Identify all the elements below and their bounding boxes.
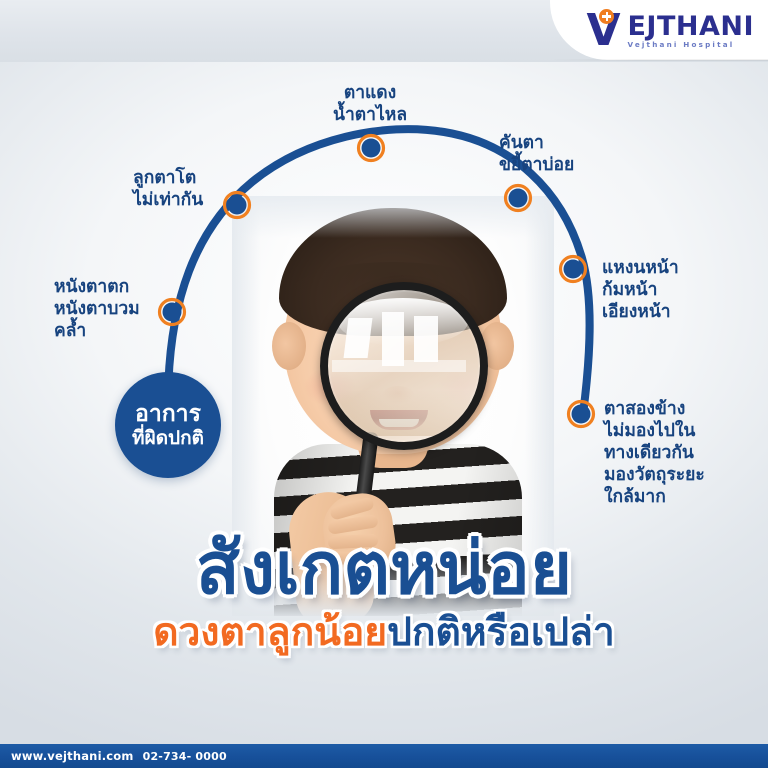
callout-label-droopy-swollen-eyelid: หนังตาตก หนังตาบวม คล้ำ bbox=[54, 276, 140, 342]
callout-line: ใกล้มาก bbox=[604, 486, 705, 508]
callout-line: คล้ำ bbox=[54, 320, 140, 342]
arc-dot-head-tilt bbox=[561, 257, 586, 282]
footer-website[interactable]: www.vejthani.com bbox=[11, 749, 134, 763]
arc-dot-red-eyes-tearing bbox=[359, 136, 384, 161]
callout-label-itchy-eyes-rubbing: คันตา ขยี้ตาบ่อย bbox=[499, 132, 574, 176]
logo-wordmark: EJTHANI bbox=[627, 14, 754, 39]
callout-line: มองวัตถุระยะ bbox=[604, 464, 705, 486]
callout-label-unequal-eyeballs: ลูกตาโต ไม่เท่ากัน bbox=[133, 167, 203, 211]
footer-bar: www.vejthani.com 02-734- 0000 bbox=[0, 744, 768, 768]
callout-line: ก้มหน้า bbox=[602, 279, 679, 301]
callout-line: เอียงหน้า bbox=[602, 301, 679, 323]
badge-line-2: ที่ผิดปกติ bbox=[132, 427, 204, 450]
subtitle-orange: ดวงตาลูกน้อย bbox=[153, 610, 387, 655]
callout-line: หนังตาบวม bbox=[54, 298, 140, 320]
callout-line: ขยี้ตาบ่อย bbox=[499, 154, 574, 176]
footer-phone[interactable]: 02-734- 0000 bbox=[143, 750, 227, 763]
header-band: V EJTHANI Vejthani Hospital bbox=[0, 0, 768, 62]
callout-line: หนังตาตก bbox=[54, 276, 140, 298]
arc-dot-droopy-swollen-eyelid bbox=[160, 300, 185, 325]
vejthani-logo[interactable]: V EJTHANI Vejthani Hospital bbox=[586, 10, 754, 50]
callout-label-head-tilt: แหงนหน้า ก้มหน้า เอียงหน้า bbox=[602, 257, 679, 323]
poster-canvas: อาการ ที่ผิดปกติ ตาแดง น้ำตาไหล คันตา ขย… bbox=[0, 0, 768, 768]
arc-dot-itchy-eyes-rubbing bbox=[506, 186, 531, 211]
arc-dot-misaligned-eyes bbox=[569, 402, 594, 427]
subtitle-blue: ปกติหรือเปล่า bbox=[387, 610, 615, 655]
logo-mark: V bbox=[586, 10, 626, 50]
callout-line: ไม่เท่ากัน bbox=[133, 189, 203, 211]
callout-label-misaligned-eyes: ตาสองข้าง ไม่มองไปใน ทางเดียวกัน มองวัตถ… bbox=[604, 398, 705, 508]
callout-line: ตาแดง bbox=[333, 82, 407, 104]
callout-line: ลูกตาโต bbox=[133, 167, 203, 189]
callout-line: คันตา bbox=[499, 132, 574, 154]
logo-panel: V EJTHANI Vejthani Hospital bbox=[550, 0, 768, 60]
arc-dot-unequal-eyeballs bbox=[225, 193, 250, 218]
logo-text: EJTHANI Vejthani Hospital bbox=[627, 14, 754, 49]
badge-line-1: อาการ bbox=[135, 401, 201, 427]
callout-line: แหงนหน้า bbox=[602, 257, 679, 279]
abnormal-symptoms-badge: อาการ ที่ผิดปกติ bbox=[115, 372, 221, 478]
headline-title: สังเกตหน่อย bbox=[0, 528, 768, 608]
callout-line: น้ำตาไหล bbox=[333, 104, 407, 126]
callout-line: ทางเดียวกัน bbox=[604, 442, 705, 464]
callout-label-red-eyes-tearing: ตาแดง น้ำตาไหล bbox=[333, 82, 407, 126]
headline-block: สังเกตหน่อย ดวงตาลูกน้อยปกติหรือเปล่า bbox=[0, 528, 768, 656]
callout-line: ตาสองข้าง bbox=[604, 398, 705, 420]
headline-subtitle: ดวงตาลูกน้อยปกติหรือเปล่า bbox=[0, 610, 768, 656]
callout-line: ไม่มองไปใน bbox=[604, 420, 705, 442]
